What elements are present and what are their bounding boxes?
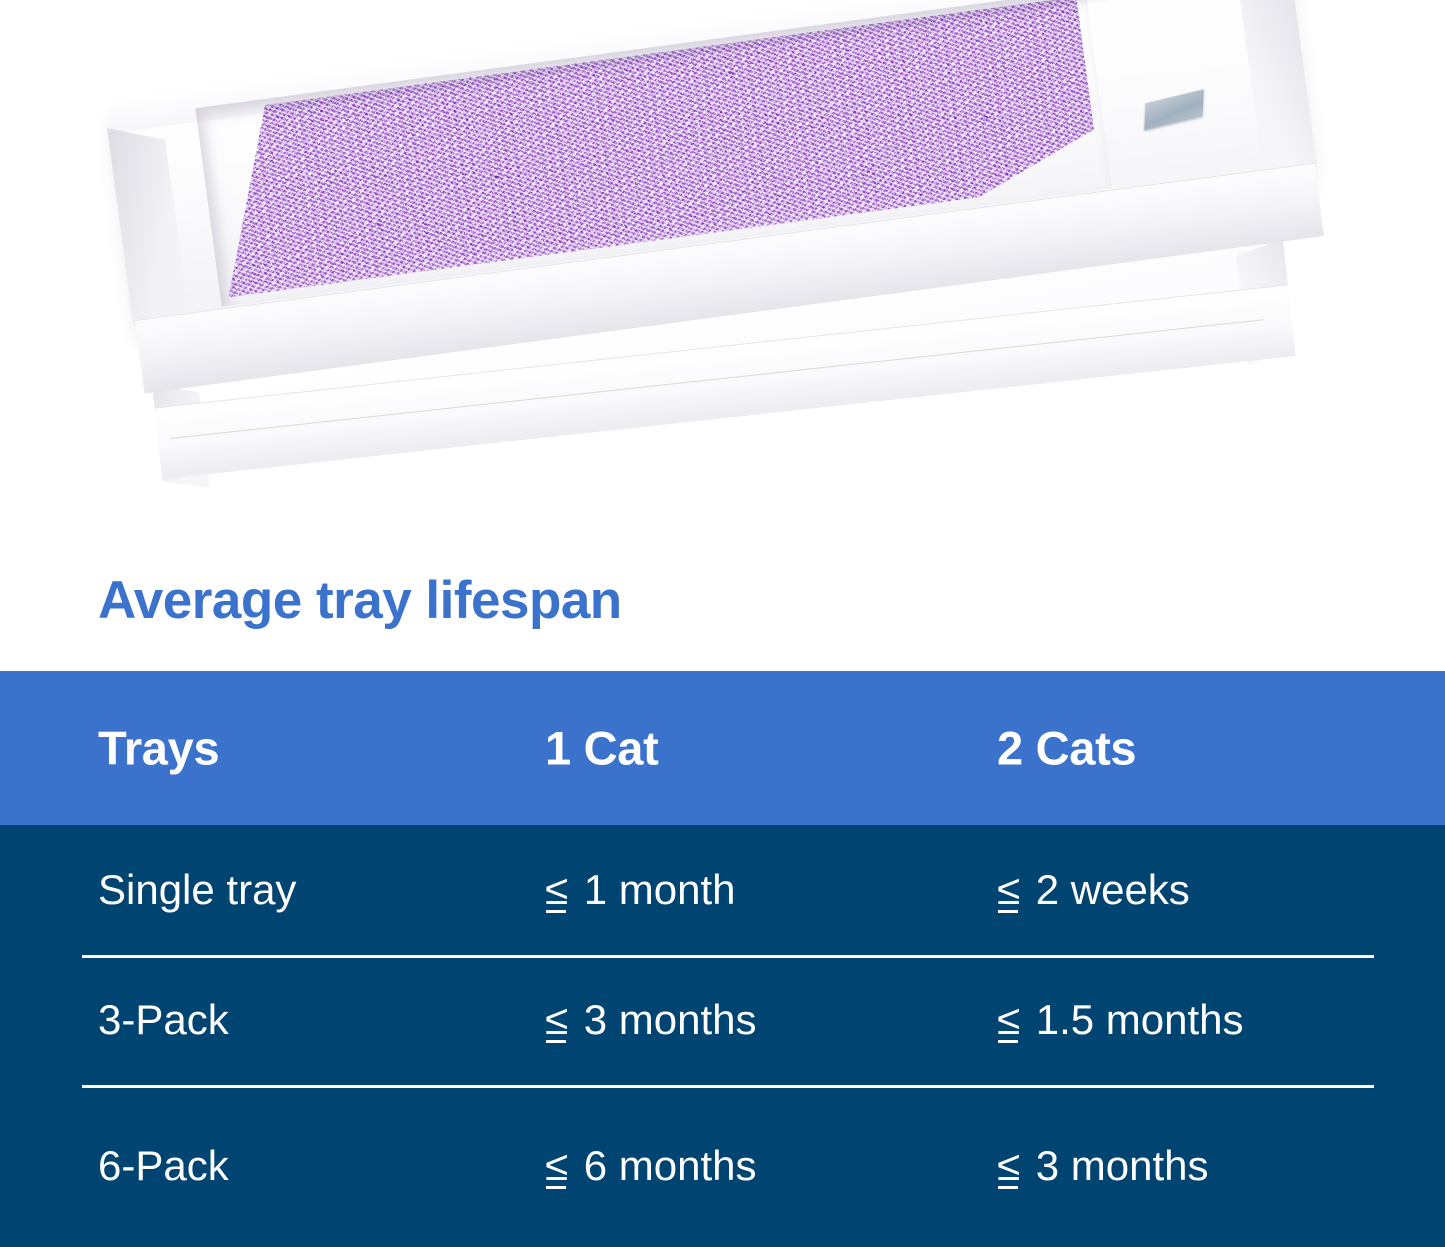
less-than-or-equal-icon: ≤ <box>997 866 1024 914</box>
table-row: 6-Pack ≤ 6 months ≤ 3 months <box>0 1085 1445 1247</box>
less-than-or-equal-icon: ≤ <box>997 1142 1024 1190</box>
row-label-6-pack: 6-Pack <box>98 1142 229 1190</box>
page-title: Average tray lifespan <box>98 570 622 631</box>
row-label-3-pack: 3-Pack <box>98 996 229 1044</box>
cell-3-pack-two-cats: ≤ 1.5 months <box>997 996 1244 1044</box>
cell-single-tray-two-cats: ≤ 2 weeks <box>997 866 1190 914</box>
less-than-or-equal-icon: ≤ <box>545 866 572 914</box>
tray-tab-icon-upper <box>1144 89 1203 130</box>
cell-value: 1.5 months <box>1036 996 1244 1043</box>
less-than-or-equal-icon: ≤ <box>997 996 1024 1044</box>
less-than-or-equal-icon: ≤ <box>545 996 572 1044</box>
cell-value: 2 weeks <box>1036 866 1190 913</box>
column-header-trays: Trays <box>98 721 219 776</box>
table-row: 3-Pack ≤ 3 months ≤ 1.5 months <box>0 955 1445 1085</box>
table-row: Single tray ≤ 1 month ≤ 2 weeks <box>0 825 1445 955</box>
row-label-single-tray: Single tray <box>98 866 296 914</box>
cell-3-pack-one-cat: ≤ 3 months <box>545 996 757 1044</box>
table-body: Single tray ≤ 1 month ≤ 2 weeks 3-Pack ≤… <box>0 825 1445 1247</box>
cell-single-tray-one-cat: ≤ 1 month <box>545 866 736 914</box>
cell-value: 3 months <box>1036 1142 1209 1189</box>
cell-6-pack-two-cats: ≤ 3 months <box>997 1142 1209 1190</box>
column-header-one-cat: 1 Cat <box>545 721 658 776</box>
tray-stage <box>0 0 1445 555</box>
product-photo <box>0 0 1445 555</box>
table-header-row: Trays 1 Cat 2 Cats <box>0 671 1445 825</box>
cell-value: 3 months <box>584 996 757 1043</box>
less-than-or-equal-icon: ≤ <box>545 1142 572 1190</box>
cell-value: 6 months <box>584 1142 757 1189</box>
column-header-two-cats: 2 Cats <box>997 721 1136 776</box>
lifespan-table: Trays 1 Cat 2 Cats Single tray ≤ 1 month… <box>0 671 1445 1247</box>
cell-6-pack-one-cat: ≤ 6 months <box>545 1142 757 1190</box>
cell-value: 1 month <box>584 866 736 913</box>
